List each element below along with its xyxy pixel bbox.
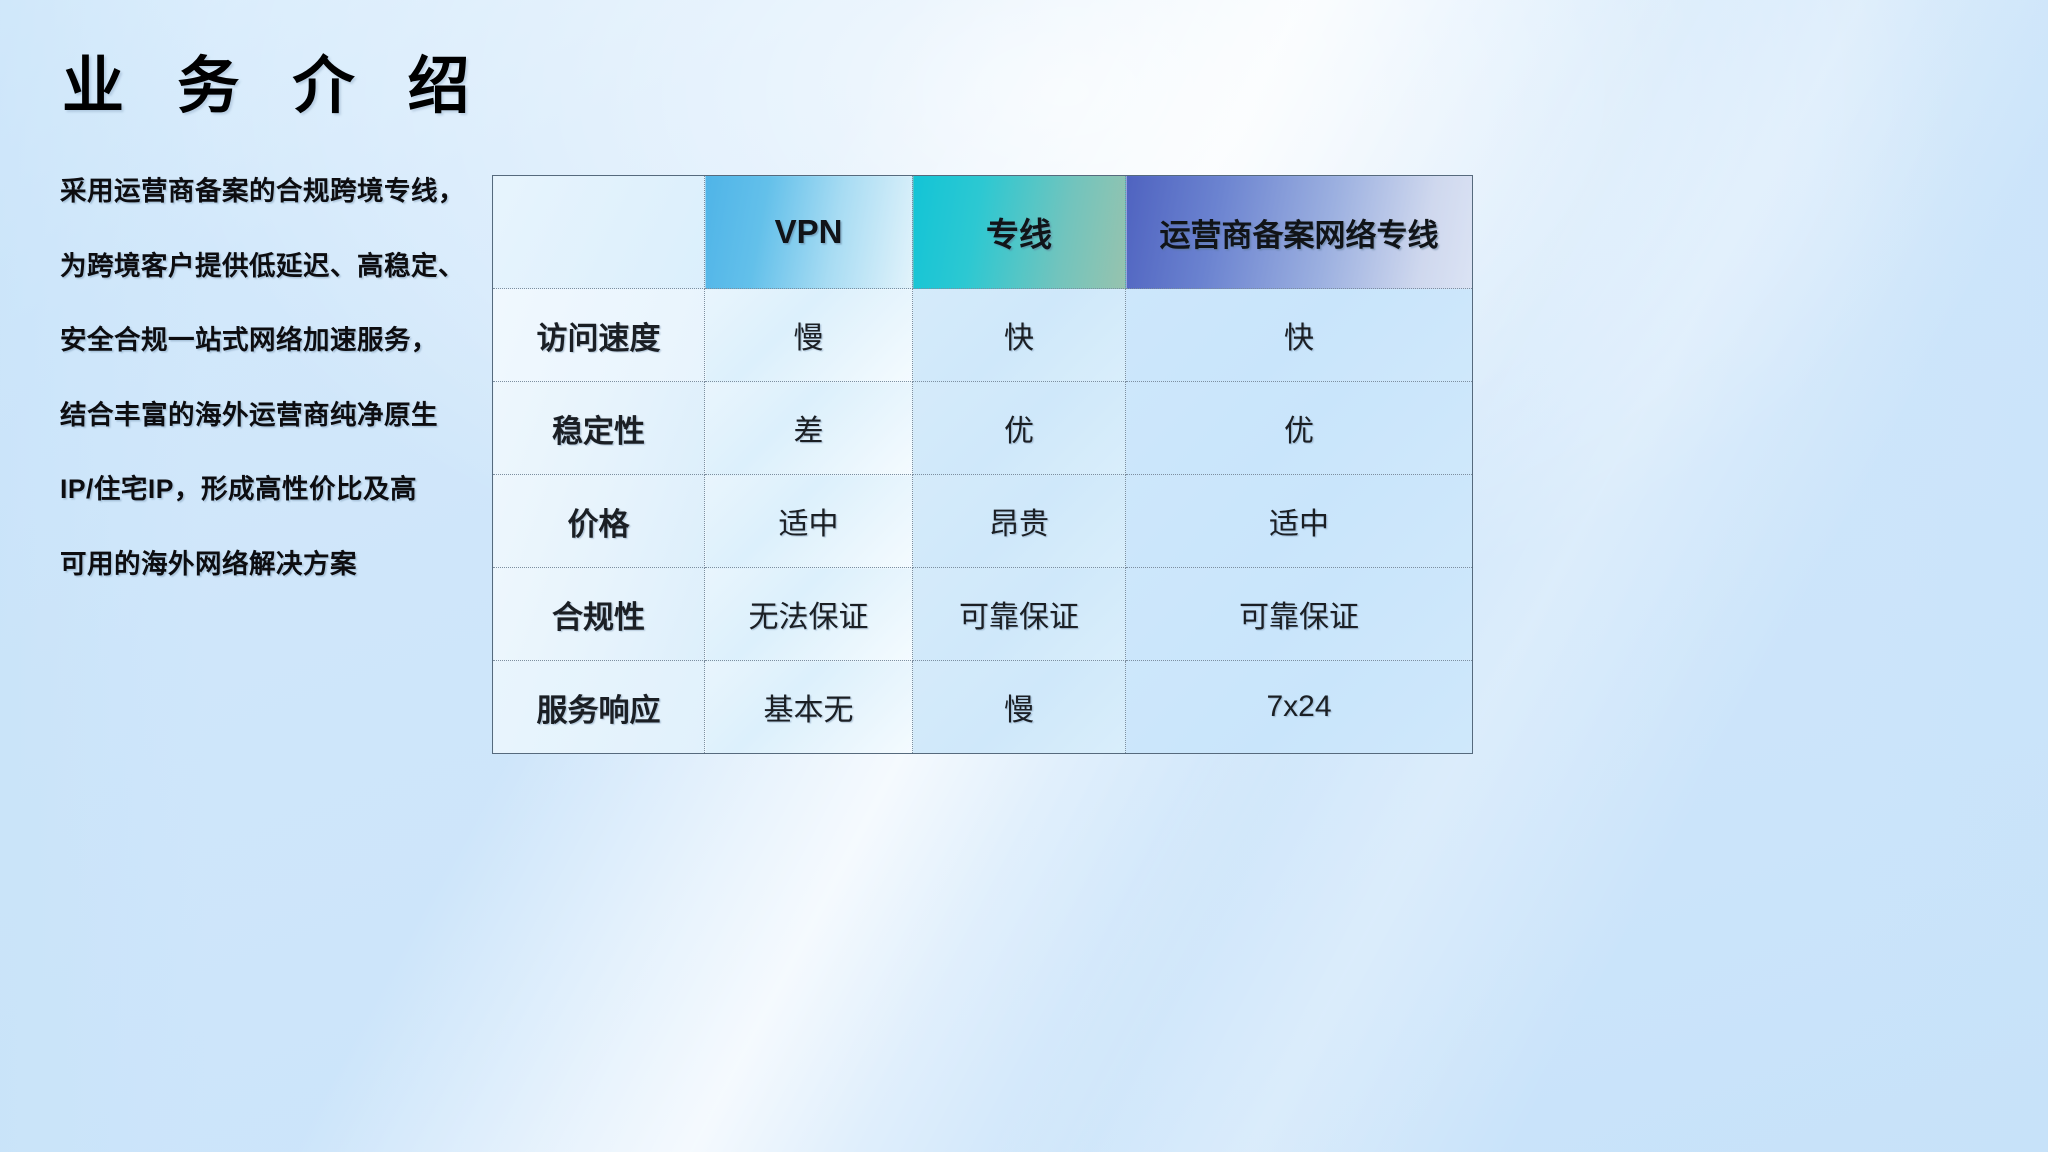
table-header-cell-line: 专线 <box>913 176 1126 289</box>
intro-line: 安全合规一站式网络加速服务， <box>60 327 490 354</box>
row-label: 稳定性 <box>493 382 705 475</box>
cell-line: 昂贵 <box>913 475 1126 568</box>
cell-vpn: 无法保证 <box>705 568 913 661</box>
intro-line: 为跨境客户提供低延迟、高稳定、 <box>60 253 490 280</box>
intro-line: 结合丰富的海外运营商纯净原生 <box>60 402 490 429</box>
table-row: 稳定性 差 优 优 <box>493 382 1473 475</box>
slide-canvas: 业 务 介 绍 采用运营商备案的合规跨境专线， 为跨境客户提供低延迟、高稳定、 … <box>0 0 2048 1152</box>
cell-carrier: 7x24 <box>1126 661 1473 754</box>
comparison-table: VPN 专线 运营商备案网络专线 访问速度 慢 快 快 稳定性 差 优 优 价格… <box>492 175 1473 754</box>
cell-line: 快 <box>913 289 1126 382</box>
table-row: 价格 适中 昂贵 适中 <box>493 475 1473 568</box>
table-row: 服务响应 基本无 慢 7x24 <box>493 661 1473 754</box>
intro-line: IP/住宅IP，形成高性价比及高 <box>60 476 490 503</box>
intro-paragraph: 采用运营商备案的合规跨境专线， 为跨境客户提供低延迟、高稳定、 安全合规一站式网… <box>60 178 490 577</box>
table-header: VPN 专线 运营商备案网络专线 <box>493 176 1473 289</box>
table-header-cell-vpn: VPN <box>705 176 913 289</box>
cell-line: 慢 <box>913 661 1126 754</box>
table-row: 访问速度 慢 快 快 <box>493 289 1473 382</box>
row-label: 服务响应 <box>493 661 705 754</box>
cell-vpn: 基本无 <box>705 661 913 754</box>
cell-line: 优 <box>913 382 1126 475</box>
intro-line: 采用运营商备案的合规跨境专线， <box>60 178 490 205</box>
table-header-cell-carrier: 运营商备案网络专线 <box>1126 176 1473 289</box>
cell-carrier: 可靠保证 <box>1126 568 1473 661</box>
cell-line: 可靠保证 <box>913 568 1126 661</box>
table-body: 访问速度 慢 快 快 稳定性 差 优 优 价格 适中 昂贵 适中 合规性 无法保… <box>493 289 1473 754</box>
table-row: 合规性 无法保证 可靠保证 可靠保证 <box>493 568 1473 661</box>
cell-carrier: 优 <box>1126 382 1473 475</box>
row-label: 访问速度 <box>493 289 705 382</box>
row-label: 合规性 <box>493 568 705 661</box>
intro-line: 可用的海外网络解决方案 <box>60 551 490 578</box>
cell-vpn: 差 <box>705 382 913 475</box>
cell-vpn: 适中 <box>705 475 913 568</box>
page-title: 业 务 介 绍 <box>62 54 488 119</box>
cell-carrier: 快 <box>1126 289 1473 382</box>
table-header-row: VPN 专线 运营商备案网络专线 <box>493 176 1473 289</box>
table-header-cell-blank <box>493 176 705 289</box>
cell-vpn: 慢 <box>705 289 913 382</box>
row-label: 价格 <box>493 475 705 568</box>
cell-carrier: 适中 <box>1126 475 1473 568</box>
